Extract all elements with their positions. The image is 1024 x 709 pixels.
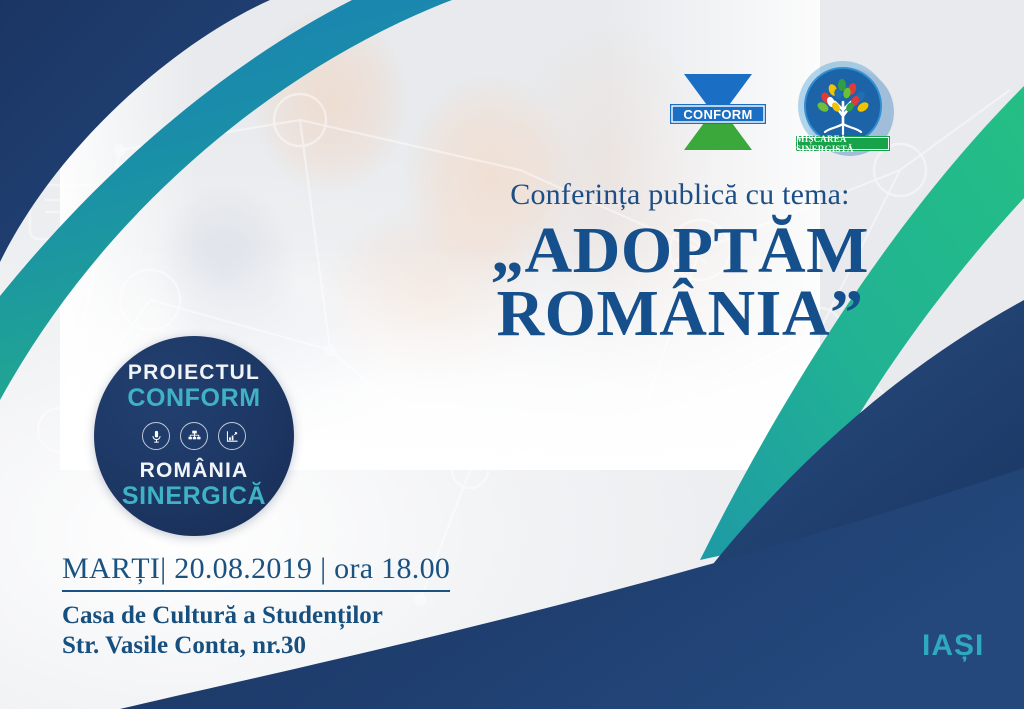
conform-logo: CONFORM bbox=[668, 62, 768, 158]
org-chart-icon bbox=[180, 422, 208, 450]
quote-close: ” bbox=[830, 277, 864, 350]
badge-icon-row bbox=[142, 422, 246, 450]
miscarea-logo-label: MIȘCAREA SINERGISTĂ bbox=[796, 134, 890, 154]
badge-line-conform: CONFORM bbox=[127, 384, 260, 413]
microphone-icon bbox=[142, 422, 170, 450]
venue-line-1: Casa de Cultură a Studenților bbox=[62, 601, 450, 631]
event-venue: Casa de Cultură a Studenților Str. Vasil… bbox=[62, 601, 450, 660]
conform-logo-label: CONFORM bbox=[683, 107, 752, 122]
badge-line-sinergica: SINERGICĂ bbox=[122, 482, 266, 511]
title-line-2: ROMÂNIA” bbox=[430, 282, 930, 345]
logo-group: CONFORM bbox=[668, 56, 918, 164]
city-label: IAȘI bbox=[922, 629, 984, 663]
event-date: MARȚI| 20.08.2019 | ora 18.00 bbox=[62, 552, 450, 592]
event-info: MARȚI| 20.08.2019 | ora 18.00 Casa de Cu… bbox=[62, 552, 450, 660]
badge-line-proiectul: PROIECTUL bbox=[128, 361, 260, 385]
title-text-1: ADOPTĂM bbox=[525, 214, 869, 287]
miscarea-sinergista-logo: MIȘCAREA SINERGISTĂ bbox=[790, 58, 896, 162]
conference-kicker: Conferința publică cu tema: bbox=[430, 178, 930, 213]
venue-line-2: Str. Vasile Conta, nr.30 bbox=[62, 631, 450, 661]
badge-line-romania: ROMÂNIA bbox=[140, 459, 249, 483]
project-badge: PROIECTUL CONFORM bbox=[94, 336, 294, 536]
headline-block: Conferința publică cu tema: „ADOPTĂM ROM… bbox=[430, 178, 930, 345]
bar-chart-icon bbox=[218, 422, 246, 450]
quote-open: „ bbox=[491, 214, 525, 287]
title-line-1: „ADOPTĂM bbox=[430, 219, 930, 282]
title-text-2: ROMÂNIA bbox=[497, 277, 830, 350]
conference-title: „ADOPTĂM ROMÂNIA” bbox=[430, 219, 930, 346]
poster-canvas: CONFORM bbox=[0, 0, 1024, 709]
